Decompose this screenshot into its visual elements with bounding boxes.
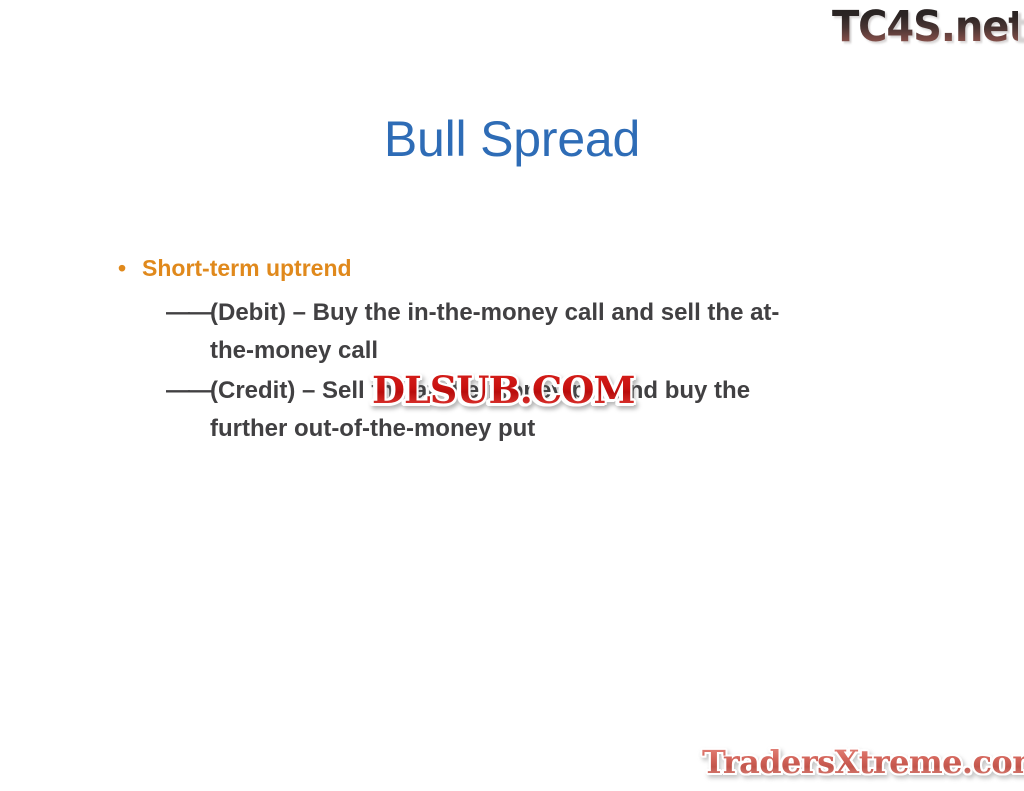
list-item-level1-label: Short-term uptrend <box>142 252 898 285</box>
bullet-dot-icon: • <box>118 252 142 285</box>
presentation-slide: TC4S.net TC4S.net Bull Spread • Short-te… <box>0 0 1024 791</box>
slide-body: • Short-term uptrend —— (Debit) – Buy th… <box>118 252 898 450</box>
dlsub-watermark: DLSUB.COM <box>372 370 635 410</box>
slide-title: Bull Spread <box>0 110 1024 168</box>
em-dash-icon: —— <box>166 372 210 410</box>
brand-logo: TC4S.net <box>832 2 1018 52</box>
list-item-level2: —— (Debit) – Buy the in-the-money call a… <box>166 294 898 370</box>
list-item-level2-label: (Debit) – Buy the in-the-money call and … <box>210 294 810 370</box>
tradersxtreme-watermark: TradersXtreme.com <box>702 742 1024 782</box>
em-dash-icon: —— <box>166 294 210 332</box>
list-item-level1: • Short-term uptrend <box>118 252 898 285</box>
